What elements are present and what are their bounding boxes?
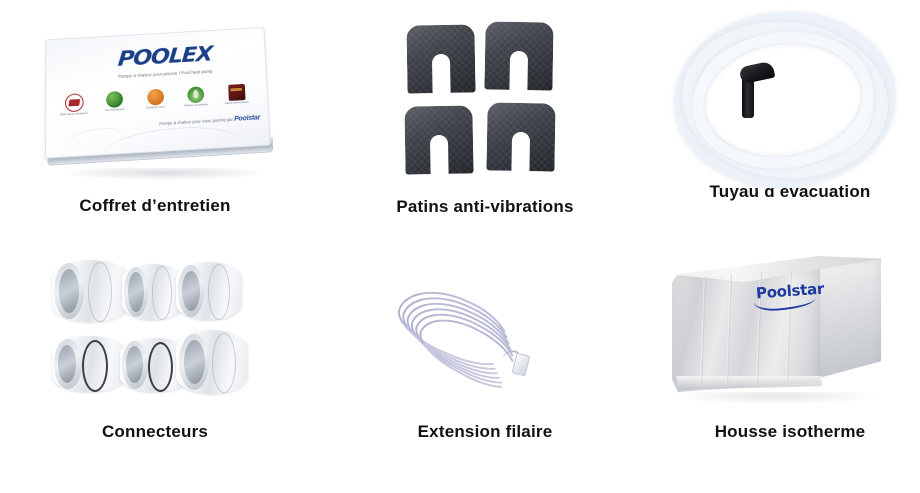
orange-badge-icon <box>147 89 164 106</box>
product-cell-tuyau-evacuation: Tuyau ɑ evacuation <box>660 0 920 230</box>
anti-vibration-pad <box>404 105 473 174</box>
maintenance-kit-box-image: POOLEX Pompe à chaleur pour piscine / Po… <box>45 28 275 173</box>
product-cell-extension-filaire: Extension filaire <box>310 246 660 431</box>
badge-abs: ABS Haute résistance <box>59 93 89 117</box>
cover-drop-shadow <box>676 392 876 404</box>
product-cell-connecteurs: Connecteurs <box>0 246 310 431</box>
caption-extension-filaire: Extension filaire <box>310 422 660 442</box>
rubber-gasket <box>148 342 173 392</box>
rubber-gasket <box>82 340 108 392</box>
product-cell-patins-anti-vibrations: Patins anti-vibrations <box>310 0 660 230</box>
product-accessory-grid: POOLEX Pompe à chaleur pour piscine / Po… <box>0 0 920 493</box>
cover-bottom-hem <box>672 376 822 390</box>
badge-orange: Garantie 2 ans <box>140 88 170 110</box>
product-cell-coffret-entretien: POOLEX Pompe à chaleur pour piscine / Po… <box>0 0 310 230</box>
anti-vibration-pad <box>406 24 475 93</box>
caption-coffret-entretien: Coffret d’entretien <box>0 196 310 216</box>
badge-leaf-label: Gaz écologique <box>100 108 130 113</box>
connector-ring-gasket <box>52 336 126 392</box>
badge-abs-label: ABS Haute résistance <box>59 112 89 117</box>
badge-orange-label: Garantie 2 ans <box>141 105 171 110</box>
badge-lotus-label: Silence acoustique <box>181 103 211 108</box>
poolex-logo: POOLEX <box>98 43 232 71</box>
caption-connecteurs: Connecteurs <box>0 422 310 442</box>
caption-patins-anti-vibrations: Patins anti-vibrations <box>310 197 660 217</box>
box-swoosh-right <box>102 122 240 157</box>
box-footer-text: Pompe à chaleur pour votre piscine par <box>159 117 233 126</box>
made-badge-icon <box>228 84 245 101</box>
badge-made: Haute performance <box>221 84 251 106</box>
connector-ring <box>52 260 130 322</box>
product-cell-housse-isotherme: Poolstar Housse isotherme <box>660 246 920 431</box>
anti-vibration-pad <box>484 21 553 90</box>
connector-ring <box>122 264 184 320</box>
anti-vibration-pad <box>486 102 555 171</box>
badge-lotus: Silence acoustique <box>181 86 211 108</box>
badge-leaf: Gaz écologique <box>100 91 130 113</box>
connector-ring <box>176 262 242 320</box>
caption-housse-isotherme: Housse isotherme <box>660 422 920 442</box>
connector-ring <box>176 330 248 394</box>
abs-badge-icon <box>65 93 84 112</box>
poolstar-wordmark-small: Poolstar <box>234 115 260 123</box>
cover-side-panel <box>815 258 881 384</box>
lotus-badge-icon <box>187 86 204 103</box>
box-printed-artwork: POOLEX Pompe à chaleur pour piscine / Po… <box>45 29 275 180</box>
badge-made-label: Haute performance <box>222 101 252 106</box>
leaf-badge-icon <box>106 91 123 108</box>
caption-tuyau-evacuation: Tuyau ɑ evacuation <box>660 182 920 202</box>
